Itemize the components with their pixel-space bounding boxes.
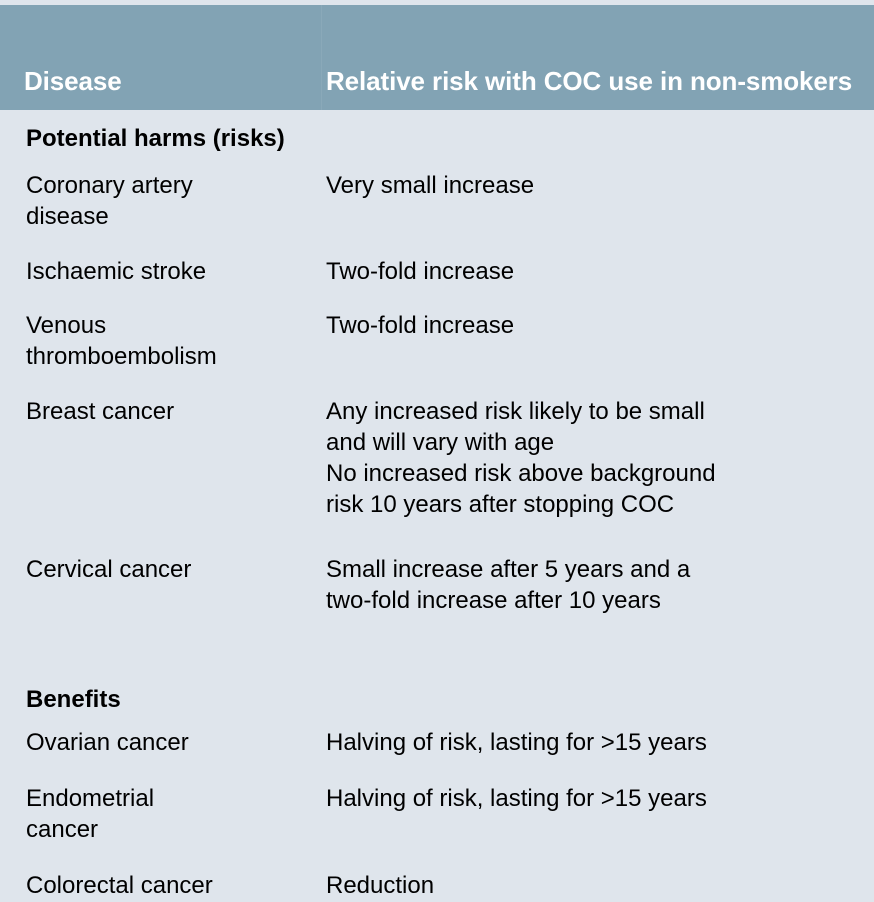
cell-disease: Coronary artery disease xyxy=(26,170,318,232)
cell-line: risk 10 years after stopping COC xyxy=(326,489,862,520)
cell-line: Cervical cancer xyxy=(26,554,318,585)
cell-relative-risk: Two-fold increase xyxy=(326,310,862,341)
cell-relative-risk: Two-fold increase xyxy=(326,256,862,287)
cell-line: disease xyxy=(26,201,318,232)
cell-line: and will vary with age xyxy=(326,427,862,458)
cell-relative-risk: Any increased risk likely to be small an… xyxy=(326,396,862,520)
cell-disease: Ovarian cancer xyxy=(26,727,318,758)
header-risk-line-2: in non-smokers xyxy=(660,66,852,96)
cell-disease: Colorectal cancer xyxy=(26,870,318,901)
cell-line: two-fold increase after 10 years xyxy=(326,585,862,616)
cell-disease: Cervical cancer xyxy=(26,554,318,585)
cell-disease: Venous thromboembolism xyxy=(26,310,318,372)
cell-line: Halving of risk, lasting for >15 years xyxy=(326,727,862,758)
cell-line: Very small increase xyxy=(326,170,862,201)
cell-line: Colorectal cancer xyxy=(26,870,318,901)
header-cell-disease: Disease xyxy=(24,66,314,97)
table-header-row: Disease Relative risk with COC use in no… xyxy=(0,5,874,110)
table-body: Potential harms (risks) Coronary artery … xyxy=(0,110,874,902)
cell-line: thromboembolism xyxy=(26,341,318,372)
cell-line: Any increased risk likely to be small xyxy=(326,396,862,427)
section-title-potential-harms: Potential harms (risks) xyxy=(26,124,285,153)
cell-line: No increased risk above background xyxy=(326,458,862,489)
cell-line: Reduction xyxy=(326,870,862,901)
risk-benefit-table: Disease Relative risk with COC use in no… xyxy=(0,0,874,902)
cell-line: Venous xyxy=(26,310,318,341)
cell-line: Breast cancer xyxy=(26,396,318,427)
cell-line: Halving of risk, lasting for >15 years xyxy=(326,783,862,814)
header-column-divider xyxy=(321,5,322,110)
cell-line: cancer xyxy=(26,814,318,845)
cell-line: Coronary artery xyxy=(26,170,318,201)
cell-disease: Breast cancer xyxy=(26,396,318,427)
header-risk-line-1: Relative risk with COC use xyxy=(326,66,653,96)
header-cell-relative-risk: Relative risk with COC use in non-smoker… xyxy=(326,66,856,97)
cell-line: Ischaemic stroke xyxy=(26,256,318,287)
cell-line: Ovarian cancer xyxy=(26,727,318,758)
cell-line: Two-fold increase xyxy=(326,310,862,341)
cell-disease: Ischaemic stroke xyxy=(26,256,318,287)
cell-disease: Endometrial cancer xyxy=(26,783,318,845)
cell-relative-risk: Reduction xyxy=(326,870,862,901)
cell-relative-risk: Halving of risk, lasting for >15 years xyxy=(326,783,862,814)
cell-relative-risk: Very small increase xyxy=(326,170,862,201)
cell-line: Endometrial xyxy=(26,783,318,814)
cell-line: Small increase after 5 years and a xyxy=(326,554,862,585)
cell-line: Two-fold increase xyxy=(326,256,862,287)
cell-relative-risk: Halving of risk, lasting for >15 years xyxy=(326,727,862,758)
section-title-benefits: Benefits xyxy=(26,685,121,714)
cell-relative-risk: Small increase after 5 years and a two-f… xyxy=(326,554,862,616)
